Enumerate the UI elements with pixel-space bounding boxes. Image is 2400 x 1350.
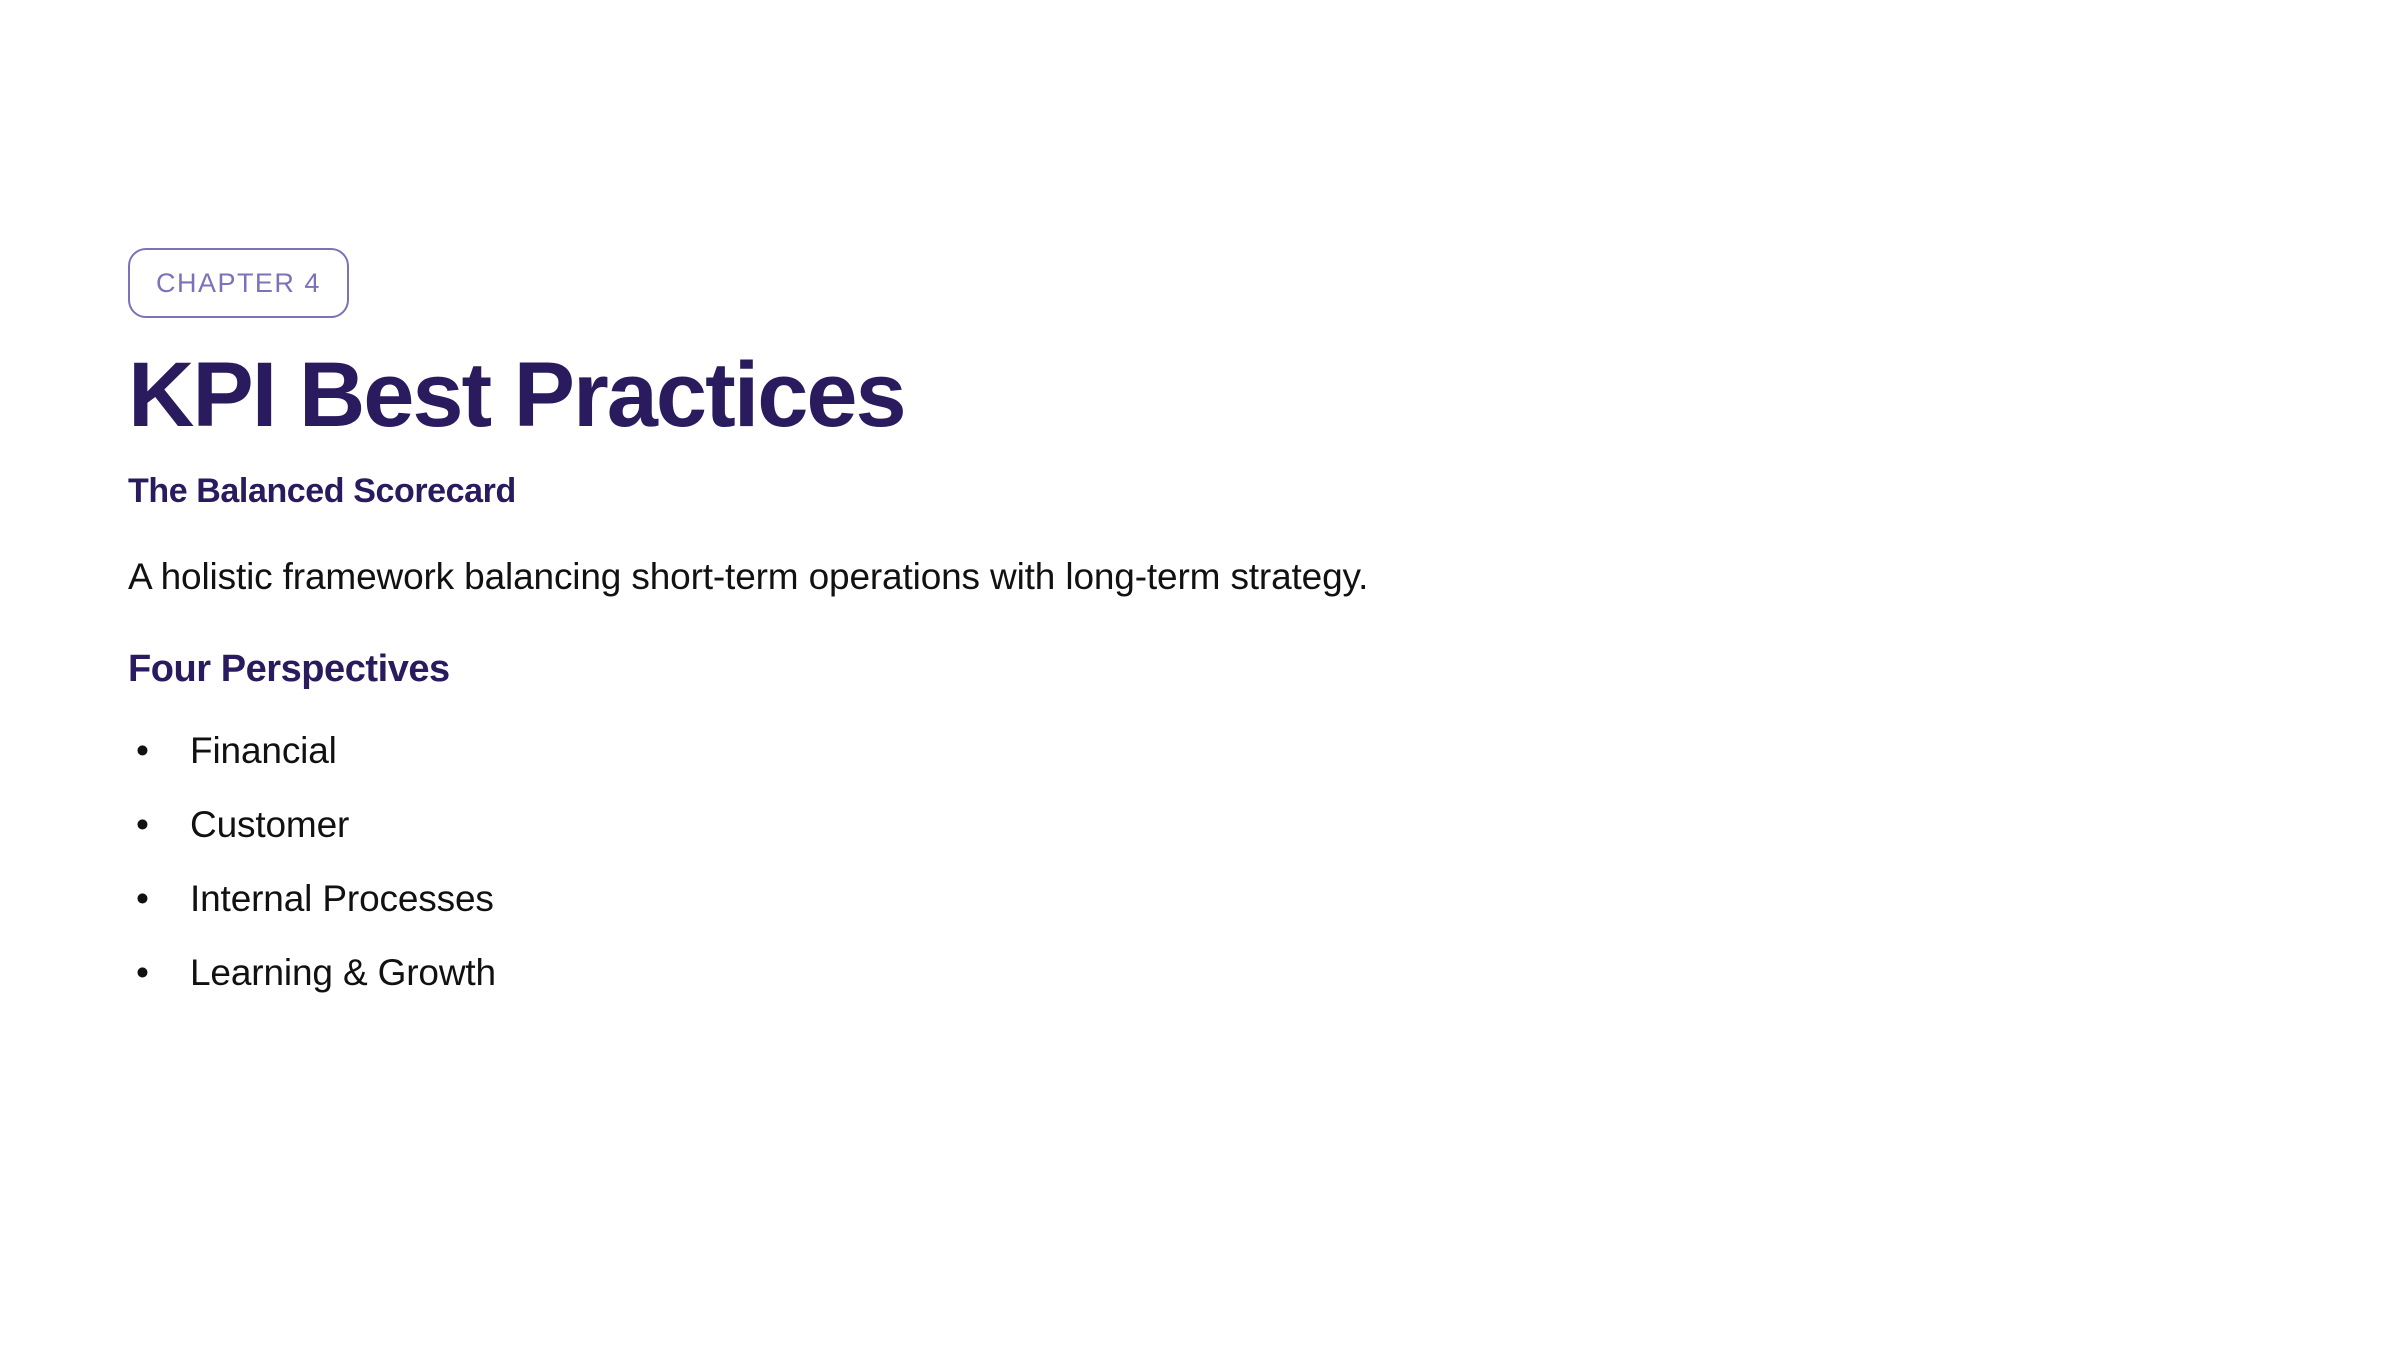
chapter-badge-label: CHAPTER 4: [156, 270, 321, 297]
page-title: KPI Best Practices: [128, 348, 2228, 444]
body-paragraph: A holistic framework balancing short-ter…: [128, 552, 2228, 602]
bullet-icon: •: [128, 732, 190, 769]
list-item: • Customer: [128, 806, 2228, 880]
list-item-label: Financial: [190, 732, 337, 769]
list-item-label: Customer: [190, 806, 349, 843]
list-item-label: Internal Processes: [190, 880, 494, 917]
list-item: • Learning & Growth: [128, 954, 2228, 1028]
chapter-badge: CHAPTER 4: [128, 248, 349, 318]
list-item: • Internal Processes: [128, 880, 2228, 954]
list-item-label: Learning & Growth: [190, 954, 496, 991]
bullet-icon: •: [128, 954, 190, 991]
list-heading: Four Perspectives: [128, 646, 2228, 694]
list-item: • Financial: [128, 732, 2228, 806]
section-subheading: The Balanced Scorecard: [128, 470, 2228, 513]
slide-canvas: CHAPTER 4 KPI Best Practices The Balance…: [0, 0, 2400, 1350]
slide-content: CHAPTER 4 KPI Best Practices The Balance…: [128, 248, 2228, 1028]
perspectives-list: • Financial • Customer • Internal Proces…: [128, 732, 2228, 1028]
bullet-icon: •: [128, 806, 190, 843]
bullet-icon: •: [128, 880, 190, 917]
